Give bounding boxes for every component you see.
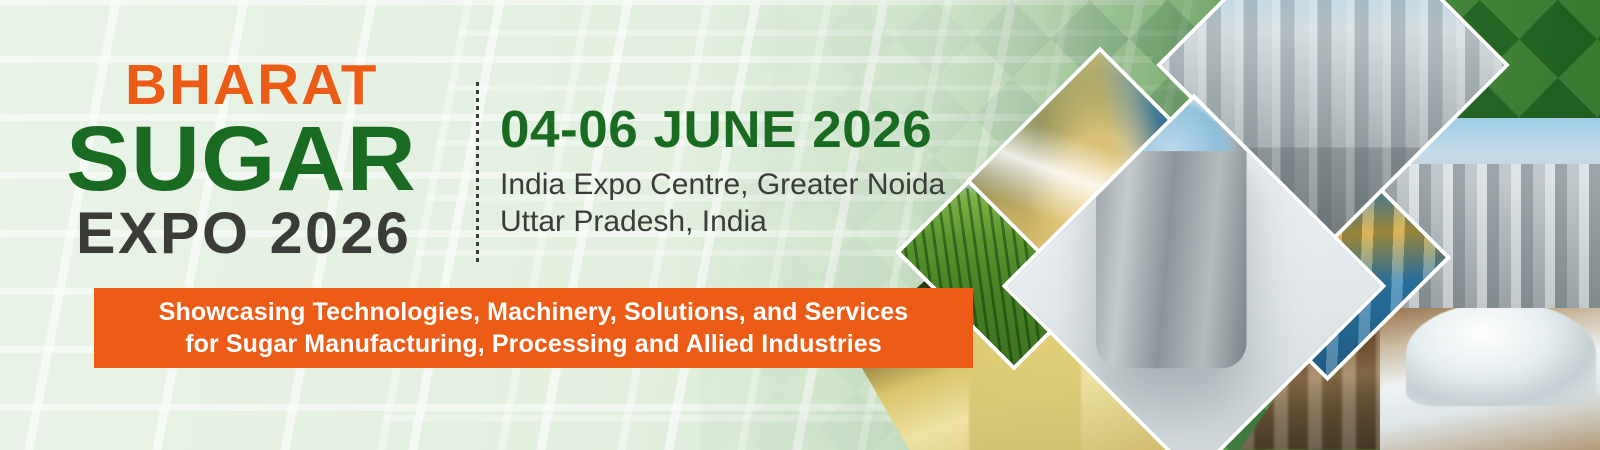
tagline-bar: Showcasing Technologies, Machinery, Solu… (94, 288, 973, 368)
event-venue: India Expo Centre, Greater Noida Uttar P… (500, 167, 945, 241)
brand-line-sugar: SUGAR (66, 113, 417, 205)
brand-line-expo-year: EXPO 2026 (76, 205, 411, 263)
event-dates: 04-06 JUNE 2026 (500, 104, 932, 156)
tagline-line-2: for Sugar Manufacturing, Processing and … (185, 328, 882, 361)
event-banner: BHARAT SUGAR EXPO 2026 04-06 JUNE 2026 I… (0, 0, 1600, 450)
tagline-line-1: Showcasing Technologies, Machinery, Solu… (159, 296, 909, 329)
venue-line-2: Uttar Pradesh, India (500, 204, 945, 241)
vertical-dotted-divider (476, 82, 479, 266)
venue-line-1: India Expo Centre, Greater Noida (500, 167, 945, 204)
brand-line-bharat: BHARAT (125, 57, 378, 114)
event-logo: BHARAT SUGAR EXPO 2026 (0, 0, 470, 285)
